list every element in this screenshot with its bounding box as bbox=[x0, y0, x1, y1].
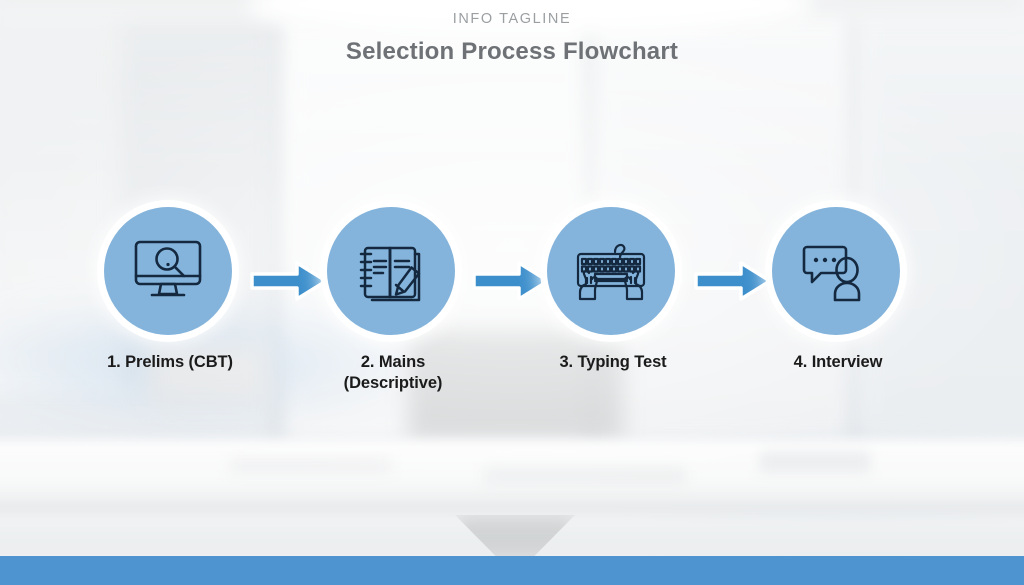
flow-step-1-label: 1. Prelims (CBT) bbox=[60, 352, 280, 373]
arrow-right-icon-2 bbox=[472, 259, 550, 303]
notebook-pencil-icon bbox=[355, 237, 427, 305]
flow-step-2-label-line1: 2. Mains bbox=[361, 353, 425, 371]
flow-step-2-circle[interactable] bbox=[327, 207, 455, 335]
flow-step-4[interactable]: 4. Interview bbox=[772, 207, 904, 335]
flow-step-2-label: 2. Mains (Descriptive) bbox=[283, 352, 503, 393]
flow-step-1-circle[interactable] bbox=[104, 207, 232, 335]
flow-step-4-circle[interactable] bbox=[772, 207, 900, 335]
arrow-right-icon-3 bbox=[694, 259, 772, 303]
info-tagline: INFO TAGLINE bbox=[0, 11, 1024, 27]
flow-step-3-circle[interactable] bbox=[547, 207, 675, 335]
flow-step-1[interactable]: 1. Prelims (CBT) bbox=[104, 207, 236, 335]
flow-step-2-label-line2: (Descriptive) bbox=[344, 374, 443, 392]
bottom-accent-bar bbox=[0, 556, 1024, 585]
speech-bubble-person-icon bbox=[799, 238, 873, 304]
flow-step-2[interactable]: 2. Mains (Descriptive) bbox=[327, 207, 459, 335]
arrow-right-icon-1 bbox=[250, 259, 328, 303]
flow-step-4-label: 4. Interview bbox=[728, 352, 948, 373]
selection-process-flow: 1. Prelims (CBT) bbox=[104, 207, 924, 407]
flow-step-3[interactable]: 3. Typing Test bbox=[547, 207, 679, 335]
page-title: Selection Process Flowchart bbox=[0, 38, 1024, 66]
monitor-search-icon bbox=[131, 238, 205, 304]
slide-canvas: INFO TAGLINE Selection Process Flowchart bbox=[0, 0, 1024, 585]
flow-step-3-label: 3. Typing Test bbox=[503, 352, 723, 373]
keyboard-hands-icon bbox=[571, 238, 651, 304]
